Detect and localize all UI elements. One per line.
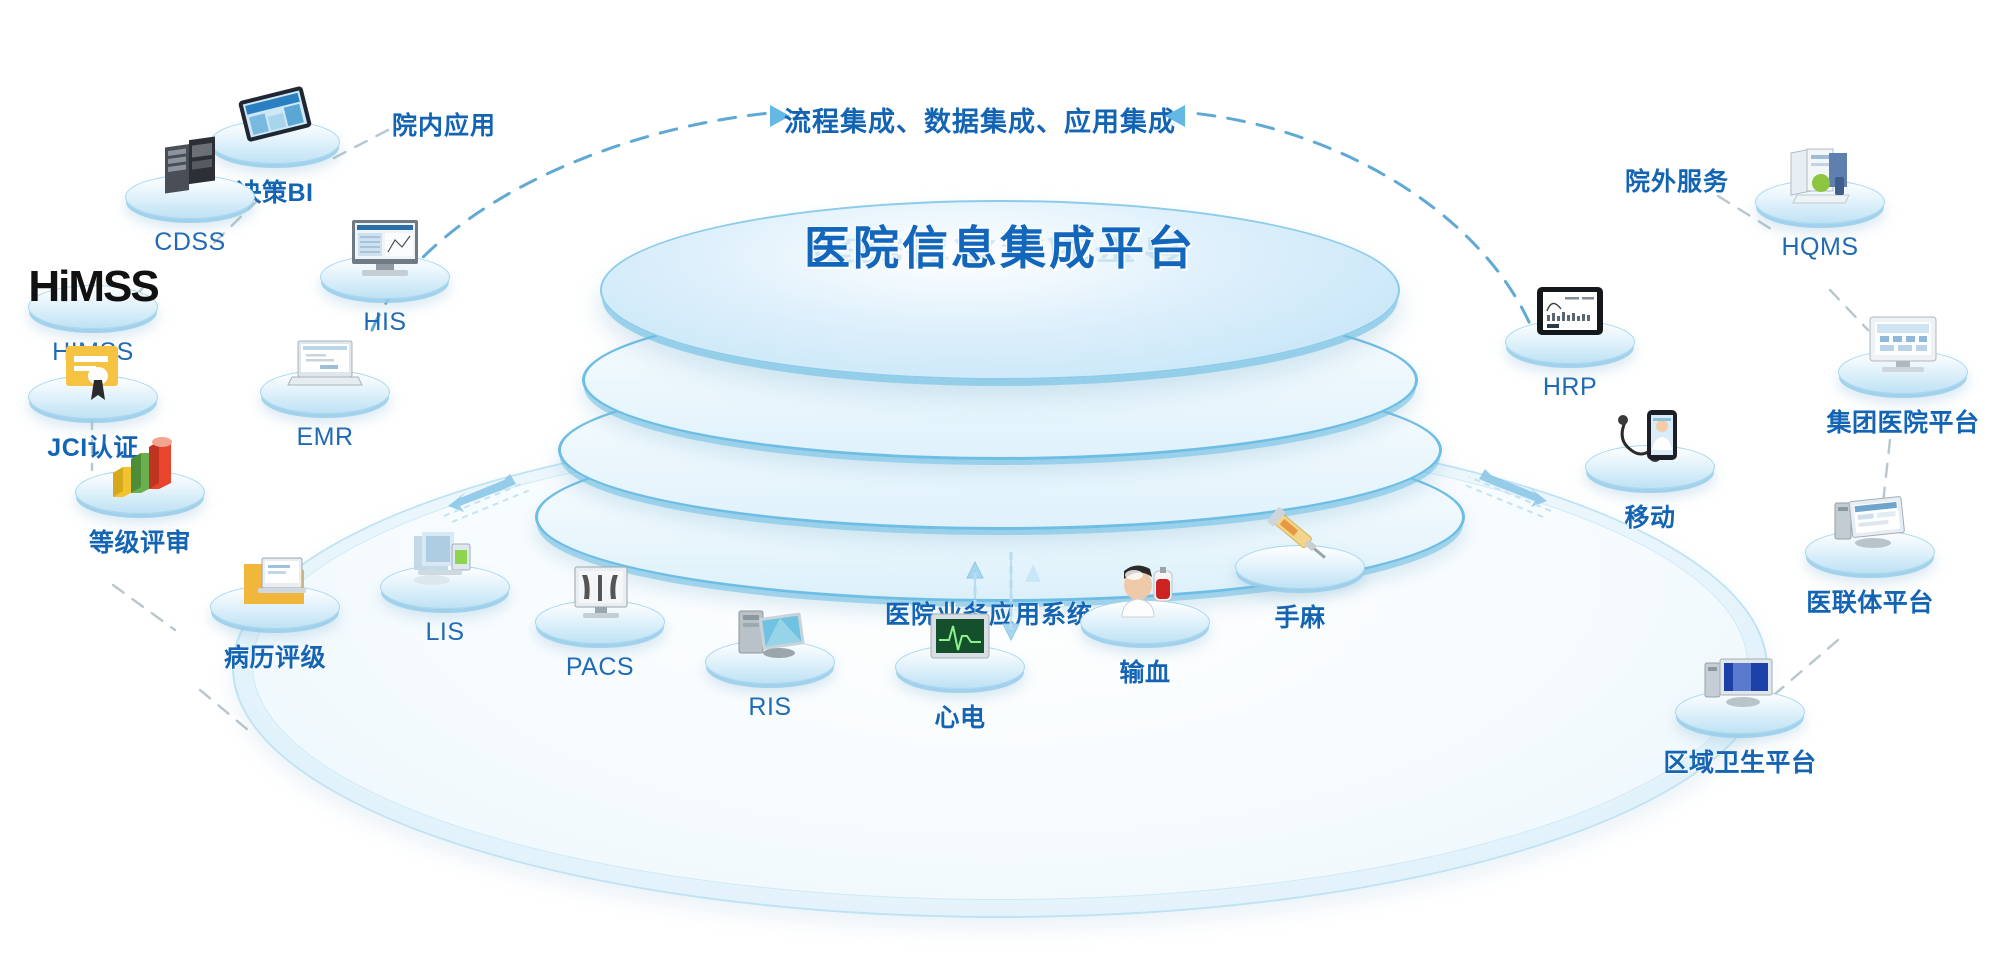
node-alliance[interactable]: 医联体平台 bbox=[1785, 530, 1955, 619]
node-pedestal bbox=[1838, 350, 1968, 394]
caption-external-services: 院外服务 bbox=[1625, 162, 1729, 198]
node-pedestal bbox=[75, 470, 205, 514]
node-pedestal bbox=[320, 255, 450, 299]
blood-transfusion-icon bbox=[1102, 559, 1188, 629]
node-pedestal bbox=[895, 645, 1025, 689]
node-blood[interactable]: 输血 bbox=[1060, 600, 1230, 689]
node-his[interactable]: HIS bbox=[300, 255, 470, 337]
node-label: HRP bbox=[1485, 373, 1655, 402]
node-hqms[interactable]: HQMS bbox=[1735, 180, 1905, 262]
xray-monitor-icon bbox=[557, 559, 643, 629]
crt-monitor-icon bbox=[1860, 309, 1946, 379]
node-pedestal bbox=[1235, 545, 1365, 589]
node-cdss[interactable]: CDSS bbox=[105, 175, 275, 257]
himss-logo-icon: HiMSS bbox=[28, 262, 157, 312]
node-label: 手麻 bbox=[1215, 598, 1385, 634]
node-ecg[interactable]: 心电 bbox=[875, 645, 1045, 734]
node-label: 等级评审 bbox=[55, 523, 225, 559]
node-pedestal bbox=[28, 375, 158, 419]
node-anesthesia[interactable]: 手麻 bbox=[1215, 545, 1385, 634]
node-pedestal bbox=[1805, 530, 1935, 574]
node-record-rating[interactable]: 病历评级 bbox=[190, 585, 360, 674]
node-pedestal bbox=[1585, 445, 1715, 489]
node-pedestal bbox=[1675, 690, 1805, 734]
lab-analyzer-icon bbox=[402, 524, 488, 594]
node-label: LIS bbox=[360, 618, 530, 647]
node-hrp[interactable]: HRP bbox=[1485, 320, 1655, 402]
diagram-canvas: 基础数据中心 临床数据中心 运营数据中心 医院信息集成平台 医院信息集成平台 流… bbox=[0, 0, 2000, 955]
tablet-dashboard-icon bbox=[232, 79, 318, 149]
node-mobile[interactable]: 移动 bbox=[1565, 445, 1735, 534]
ecg-monitor-icon bbox=[917, 604, 1003, 674]
node-pedestal: HiMSS bbox=[28, 285, 158, 329]
node-pedestal bbox=[1755, 180, 1885, 224]
node-pedestal bbox=[125, 175, 255, 219]
tablet-report-icon bbox=[1527, 279, 1613, 349]
certificate-seal-icon bbox=[50, 334, 136, 404]
node-pedestal bbox=[705, 640, 835, 684]
node-pedestal bbox=[1080, 600, 1210, 644]
node-pedestal bbox=[260, 370, 390, 414]
server-rack-icon bbox=[147, 134, 233, 204]
node-label: RIS bbox=[685, 693, 855, 722]
documents-stack-icon bbox=[1777, 139, 1863, 209]
node-label: 医联体平台 bbox=[1785, 583, 1955, 619]
node-label: 区域卫生平台 bbox=[1655, 743, 1825, 779]
node-group-hospital[interactable]: 集团医院平台 bbox=[1818, 350, 1988, 439]
node-label: 集团医院平台 bbox=[1818, 403, 1988, 439]
bidirectional-arrows-right bbox=[1455, 455, 1565, 525]
bidirectional-arrows-left bbox=[430, 460, 540, 530]
node-pacs[interactable]: PACS bbox=[515, 600, 685, 682]
smartphone-stethoscope-icon bbox=[1607, 404, 1693, 474]
node-label: HQMS bbox=[1735, 233, 1905, 262]
node-label: EMR bbox=[240, 423, 410, 452]
node-pedestal bbox=[380, 565, 510, 609]
node-label: 移动 bbox=[1565, 498, 1735, 534]
node-label: 心电 bbox=[875, 698, 1045, 734]
node-label: 病历评级 bbox=[190, 638, 360, 674]
node-region[interactable]: 区域卫生平台 bbox=[1655, 690, 1825, 779]
node-label: PACS bbox=[515, 653, 685, 682]
pc-monitor-icon bbox=[1827, 489, 1913, 559]
laptop-icon bbox=[282, 329, 368, 399]
node-grade-review[interactable]: 等级评审 bbox=[55, 470, 225, 559]
arrow-left-icon bbox=[1165, 105, 1185, 127]
integration-banner: 流程集成、数据集成、应用集成 bbox=[760, 100, 1200, 139]
syringe-icon bbox=[1257, 504, 1343, 574]
platform-title: 医院信息集成平台 bbox=[600, 212, 1400, 278]
node-emr[interactable]: EMR bbox=[240, 370, 410, 452]
node-lis[interactable]: LIS bbox=[360, 565, 530, 647]
node-pedestal bbox=[535, 600, 665, 644]
desktop-monitor-icon bbox=[342, 214, 428, 284]
workstation-icon bbox=[727, 599, 813, 669]
node-label: 输血 bbox=[1060, 653, 1230, 689]
blue-monitor-icon bbox=[1697, 649, 1783, 719]
node-pedestal bbox=[210, 585, 340, 629]
node-label: CDSS bbox=[105, 228, 275, 257]
caption-internal-apps: 院内应用 bbox=[392, 106, 496, 142]
bar-chart-3d-icon bbox=[97, 429, 183, 499]
node-pedestal bbox=[1505, 320, 1635, 364]
node-ris[interactable]: RIS bbox=[685, 640, 855, 722]
folder-laptop-icon bbox=[232, 544, 318, 614]
